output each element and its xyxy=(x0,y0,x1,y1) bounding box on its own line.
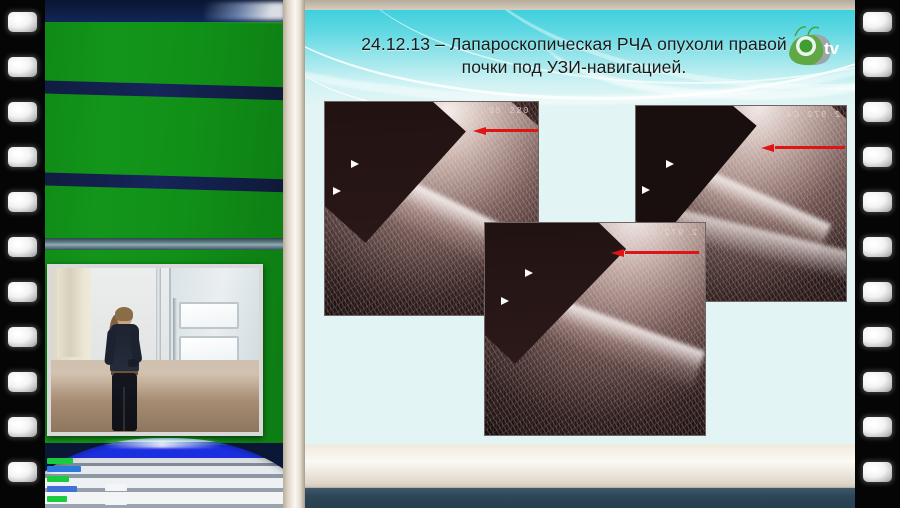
film-sprocket-hole xyxy=(8,147,37,167)
pip-curtain xyxy=(57,268,83,357)
film-sprocket-hole xyxy=(863,102,892,122)
ultrasound-marker xyxy=(351,160,359,168)
film-sprocket-hole xyxy=(8,327,37,347)
ultrasound-arrow-1 xyxy=(473,127,539,134)
film-sprocket-hole xyxy=(863,372,892,392)
slide-title: 24.12.13 – Лапароскопическая РЧА опухоли… xyxy=(324,33,824,80)
film-sprocket-hole xyxy=(863,327,892,347)
pip-floor-reflection xyxy=(51,360,259,403)
film-sprocket-hole xyxy=(8,372,37,392)
ultrasound-marker xyxy=(666,160,674,168)
projection-wall: 24.12.13 – Лапароскопическая РЧА опухоли… xyxy=(300,0,855,508)
desk-highlight xyxy=(103,440,221,448)
studio-background xyxy=(45,0,285,508)
studio-pillar xyxy=(283,0,305,508)
film-sprocket-hole xyxy=(8,192,37,212)
svg-text:tv: tv xyxy=(824,39,840,58)
broadcast-frame: 24.12.13 – Лапароскопическая РЧА опухоли… xyxy=(0,0,900,508)
film-sprocket-hole xyxy=(863,462,892,482)
slide-title-line-1: 24.12.13 – Лапароскопическая РЧА опухоли… xyxy=(324,33,824,56)
desk-graphic-chip xyxy=(105,484,127,491)
film-sprocket-hole xyxy=(8,462,37,482)
ultrasound-label-3: 2 972 C4 xyxy=(642,228,697,238)
desk-graphic-chip xyxy=(105,498,127,505)
presentation-slide[interactable]: 24.12.13 – Лапароскопическая РЧА опухоли… xyxy=(302,10,855,444)
studio-ceiling-band xyxy=(45,0,285,22)
ultrasound-arrow-2 xyxy=(761,144,845,151)
film-sprocket-hole xyxy=(863,282,892,302)
arrow-shaft xyxy=(625,251,699,254)
pip-scene xyxy=(51,268,259,432)
pip-wall-panel-top xyxy=(179,302,239,329)
film-sprocket-hole xyxy=(8,102,37,122)
arrow-head xyxy=(611,249,624,257)
desk-graphic-chip xyxy=(47,476,69,482)
film-strip-right xyxy=(855,0,900,508)
ultrasound-marker xyxy=(501,297,509,305)
film-sprocket-hole xyxy=(863,147,892,167)
film-sprocket-hole xyxy=(863,57,892,77)
film-sprocket-hole xyxy=(8,282,37,302)
film-sprocket-hole xyxy=(863,237,892,257)
desk-graphic-chip xyxy=(47,496,67,502)
arrow-shaft xyxy=(775,146,845,149)
ultrasound-marker xyxy=(642,186,650,194)
ultrasound-marker xyxy=(525,269,533,277)
film-sprocket-hole xyxy=(863,417,892,437)
slide-title-line-2: почки под УЗИ-навигацией. xyxy=(324,56,824,79)
film-sprocket-hole xyxy=(8,237,37,257)
ultrasound-marker xyxy=(333,187,341,195)
pip-panel-rail xyxy=(173,298,177,368)
pip-door-frame xyxy=(156,268,161,360)
arrow-head xyxy=(473,127,486,135)
desk-graphic-chip xyxy=(47,486,77,492)
studio-desk xyxy=(45,438,285,508)
presenter-hand xyxy=(128,359,138,367)
film-sprocket-hole xyxy=(863,12,892,32)
presenter-figure xyxy=(104,309,144,431)
presenter-hair xyxy=(115,307,133,321)
desk-graphic-chip xyxy=(47,458,73,464)
arrow-head xyxy=(761,144,774,152)
presenter-leg-split xyxy=(123,387,125,431)
presenter-video-inset[interactable] xyxy=(47,264,263,436)
ultrasound-label-1: 95 220 xyxy=(489,106,530,116)
film-sprocket-hole xyxy=(8,417,37,437)
film-strip-left xyxy=(0,0,45,508)
ultrasound-arrow-3 xyxy=(611,249,699,256)
film-sprocket-hole xyxy=(8,12,37,32)
ultrasound-label-2: 2 972 C4 xyxy=(785,110,840,120)
ultrasound-image-3[interactable]: 2 972 C4 xyxy=(484,222,706,436)
arrow-shaft xyxy=(485,129,539,132)
channel-logo: tv xyxy=(775,24,845,70)
film-sprocket-hole xyxy=(8,57,37,77)
studio-wall-shelf xyxy=(45,238,285,250)
channel-logo-icon: tv xyxy=(775,24,845,70)
film-sprocket-hole xyxy=(863,192,892,212)
desk-graphic-chip xyxy=(47,466,81,472)
